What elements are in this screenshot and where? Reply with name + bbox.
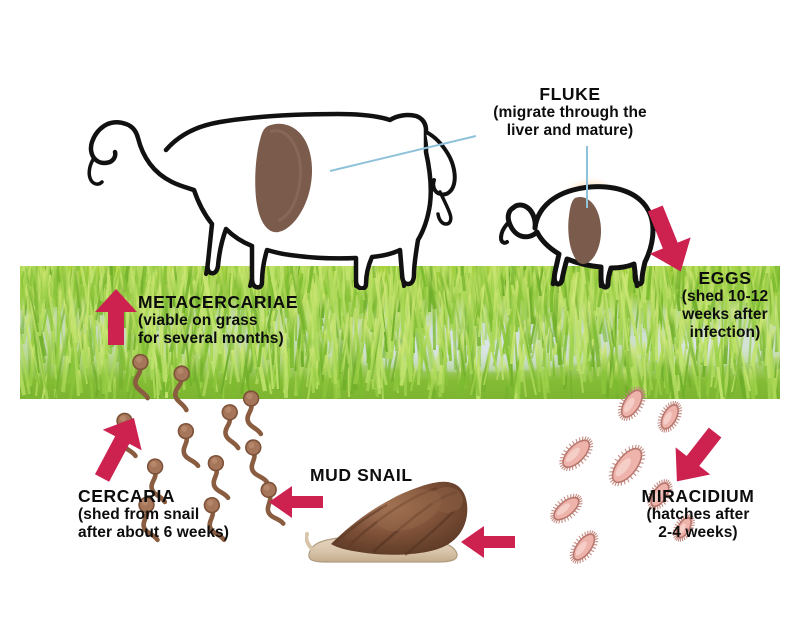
fluke-line1: (migrate through the [455,104,685,122]
metacercariae-line1: (viable on grass [138,312,350,330]
arrow-cercaria-to-pasture [88,412,148,484]
metacercariae-line2: for several months) [138,330,350,348]
cercaria-heading: CERCARIA [78,486,298,506]
label-mud-snail: MUD SNAIL [310,465,450,485]
arrow-miracidium-to-snail [460,522,516,562]
eggs-line2: weeks after [655,306,795,324]
cercaria [231,387,287,446]
miracidium [611,380,658,430]
arrow-sheep-to-eggs [640,204,696,276]
miracidium-heading: MIRACIDIUM [608,486,788,506]
miracidium [563,524,610,573]
label-miracidium: MIRACIDIUM (hatches after 2-4 weeks) [608,486,788,542]
miracidium-line1: (hatches after [608,506,788,524]
grazing-cow [60,92,480,290]
cercaria-line1: (shed from snail [78,506,298,524]
eggs-line1: (shed 10-12 [655,288,795,306]
miracidium-line2: 2-4 weeks) [608,524,788,542]
miracidium [552,429,605,482]
label-cercaria: CERCARIA (shed from snail after about 6 … [78,486,298,542]
label-fluke: FLUKE (migrate through the liver and mat… [455,84,685,140]
eggs-heading: EGGS [655,268,795,288]
arrow-metacercariae-up [94,288,138,346]
arrow-eggs-to-miracidium [666,424,726,490]
mud-snail-heading: MUD SNAIL [310,465,450,485]
cercaria-line2: after about 6 weeks) [78,524,298,542]
eggs-line3: infection) [655,324,795,342]
fluke-leader-line-sheep [586,146,588,208]
label-metacercariae: METACERCARIAE (viable on grass for sever… [138,292,350,348]
fluke-heading: FLUKE [455,84,685,104]
fluke-line2: liver and mature) [455,122,685,140]
liver-fluke-lifecycle-diagram: FLUKE (migrate through the liver and mat… [0,0,800,617]
metacercariae-heading: METACERCARIAE [138,292,350,312]
label-eggs: EGGS (shed 10-12 weeks after infection) [655,268,795,342]
